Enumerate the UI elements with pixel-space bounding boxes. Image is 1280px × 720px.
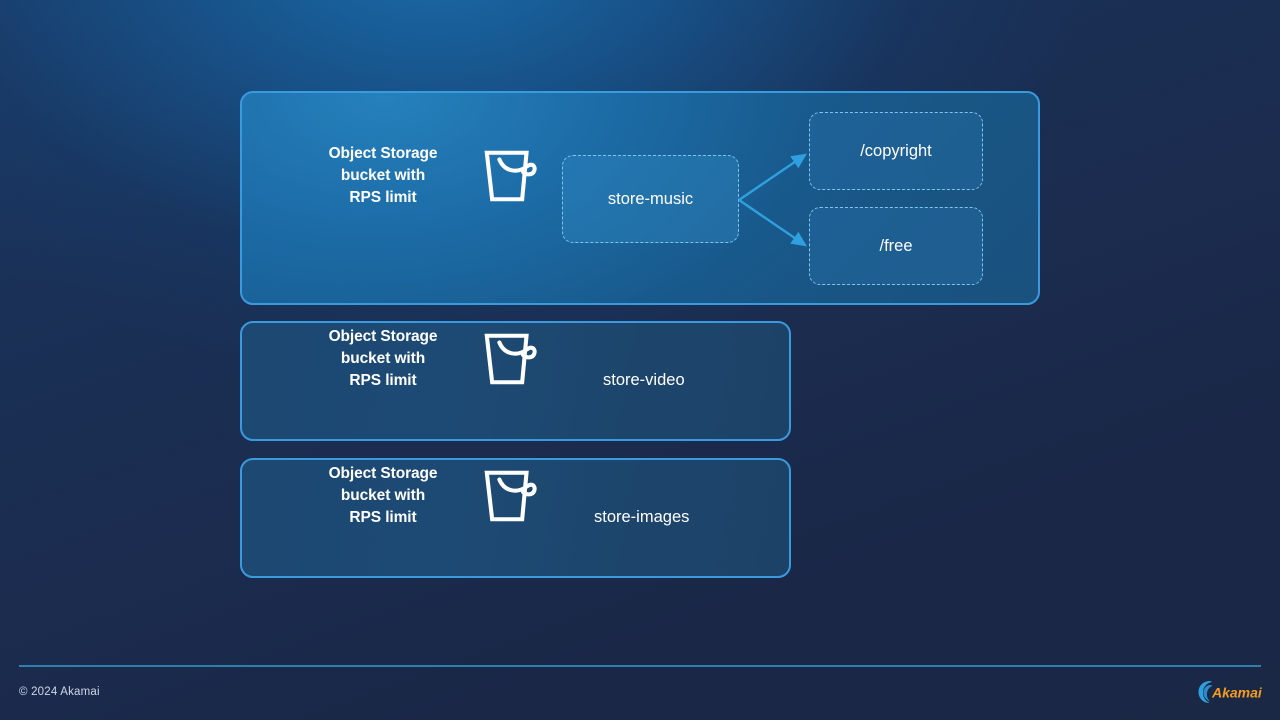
bucket-icon [481,465,543,527]
path-box-copyright[interactable]: /copyright [809,112,983,190]
bucket-name-store-video: store-video [603,371,685,390]
bucket-icon [481,328,543,390]
bucket-name-store-music[interactable]: store-music [562,155,739,243]
bucket-label-line-2: bucket with [309,165,457,187]
bucket-label-line-3: RPS limit [309,507,457,529]
bucket-label-line-3: RPS limit [309,370,457,392]
bucket-label-line-3: RPS limit [309,187,457,209]
akamai-wordmark: Akamai [1211,685,1263,701]
arrow-to-free [739,200,805,245]
bucket-group: Object Storage bucket with RPS limit [309,326,543,392]
bucket-label-line-2: bucket with [309,348,457,370]
slide-canvas: Object Storage bucket with RPS limit sto… [0,0,1280,720]
bucket-label: Object Storage bucket with RPS limit [309,463,457,529]
bucket-icon [481,145,543,207]
bucket-group: Object Storage bucket with RPS limit [309,143,543,209]
bucket-label-line-1: Object Storage [309,463,457,485]
path-box-free[interactable]: /free [809,207,983,285]
bucket-label-line-1: Object Storage [309,326,457,348]
bucket-label-line-1: Object Storage [309,143,457,165]
footer-divider [19,665,1261,667]
footer-copyright: © 2024 Akamai [19,686,100,698]
akamai-swirl-icon [1199,681,1213,703]
arrow-to-copyright [739,155,805,200]
bucket-name-store-images: store-images [594,508,689,527]
akamai-logo: Akamai [1197,679,1269,705]
card-store-images: Object Storage bucket with RPS limit sto… [240,458,791,578]
bucket-group: Object Storage bucket with RPS limit [309,463,543,529]
card-store-music: Object Storage bucket with RPS limit sto… [240,91,1040,305]
bucket-label: Object Storage bucket with RPS limit [309,326,457,392]
bucket-label: Object Storage bucket with RPS limit [309,143,457,209]
card-store-video: Object Storage bucket with RPS limit sto… [240,321,791,441]
bucket-label-line-2: bucket with [309,485,457,507]
